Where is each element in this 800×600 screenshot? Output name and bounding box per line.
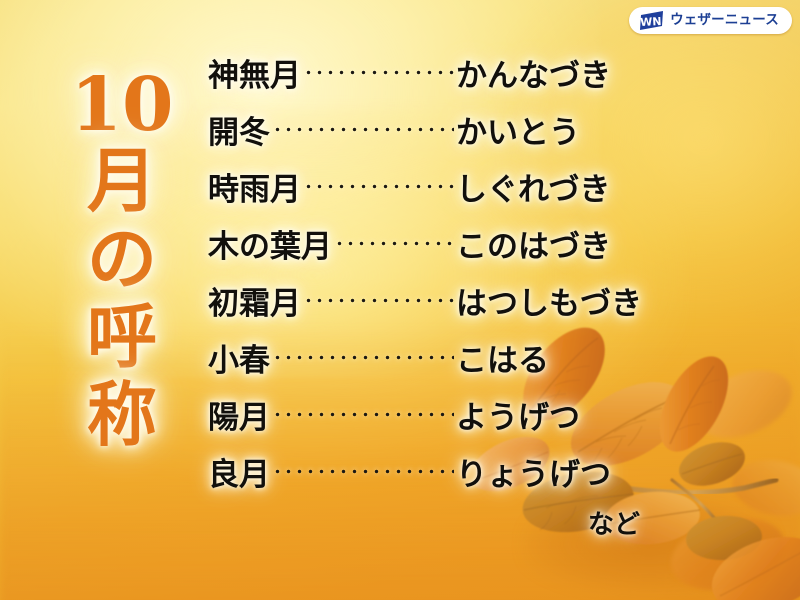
month-name-kanji: 初霜月 <box>208 289 301 320</box>
dotted-leader <box>303 282 454 308</box>
dotted-leader <box>272 396 454 422</box>
month-name-reading: りょうげつ <box>456 460 688 491</box>
list-item: 木の葉月 このはづき <box>208 231 688 288</box>
month-name-kanji: 良月 <box>208 460 270 491</box>
list-item: 初霜月 はつしもづき <box>208 288 688 345</box>
page-title: 10 月 の 呼 称 <box>62 68 182 458</box>
dotted-leader <box>272 111 454 137</box>
month-name-reading: しぐれづき <box>456 175 688 206</box>
title-month-number: 10 <box>71 68 174 142</box>
month-name-kanji: 陽月 <box>208 403 270 434</box>
list-item: 開冬 かいとう <box>208 117 688 174</box>
title-char-0: 月 <box>87 146 157 216</box>
svg-text:WN: WN <box>640 15 662 29</box>
list-item: 神無月 かんなづき <box>208 60 688 117</box>
dotted-leader <box>334 225 454 251</box>
list-item: 小春 こはる <box>208 345 688 402</box>
dotted-leader <box>272 453 454 479</box>
month-name-kanji: 開冬 <box>208 118 270 149</box>
month-name-reading: こはる <box>456 346 688 377</box>
title-char-1: の <box>87 224 157 294</box>
month-name-list: 神無月 かんなづき 開冬 かいとう 時雨月 しぐれづき 木の葉月 このはづき 初… <box>208 60 688 516</box>
month-name-kanji: 時雨月 <box>208 175 301 206</box>
dotted-leader <box>303 54 454 80</box>
title-char-2: 呼 <box>87 302 157 372</box>
logo-brand-text: ウェザーニュース <box>670 14 779 28</box>
weathernews-logo[interactable]: WN ウェザーニュース <box>629 7 792 34</box>
month-name-reading: はつしもづき <box>456 289 688 320</box>
month-name-reading: かんなづき <box>456 61 688 92</box>
wn-mark-icon: WN <box>638 11 665 30</box>
month-name-reading: かいとう <box>456 118 688 149</box>
list-item: 陽月 ようげつ <box>208 402 688 459</box>
title-char-3: 称 <box>87 380 157 450</box>
month-name-reading: このはづき <box>456 232 688 263</box>
dotted-leader <box>303 168 454 194</box>
dotted-leader <box>272 339 454 365</box>
list-item: 良月 りょうげつ <box>208 459 688 516</box>
month-name-reading: ようげつ <box>456 403 688 434</box>
month-name-kanji: 木の葉月 <box>208 232 332 263</box>
month-name-kanji: 小春 <box>208 346 270 377</box>
slide-canvas: WN ウェザーニュース 10 月 の 呼 称 神無月 かんなづき 開冬 かいとう… <box>0 0 800 600</box>
list-item: 時雨月 しぐれづき <box>208 174 688 231</box>
footnote-etc: など <box>588 512 640 538</box>
month-name-kanji: 神無月 <box>208 61 301 92</box>
